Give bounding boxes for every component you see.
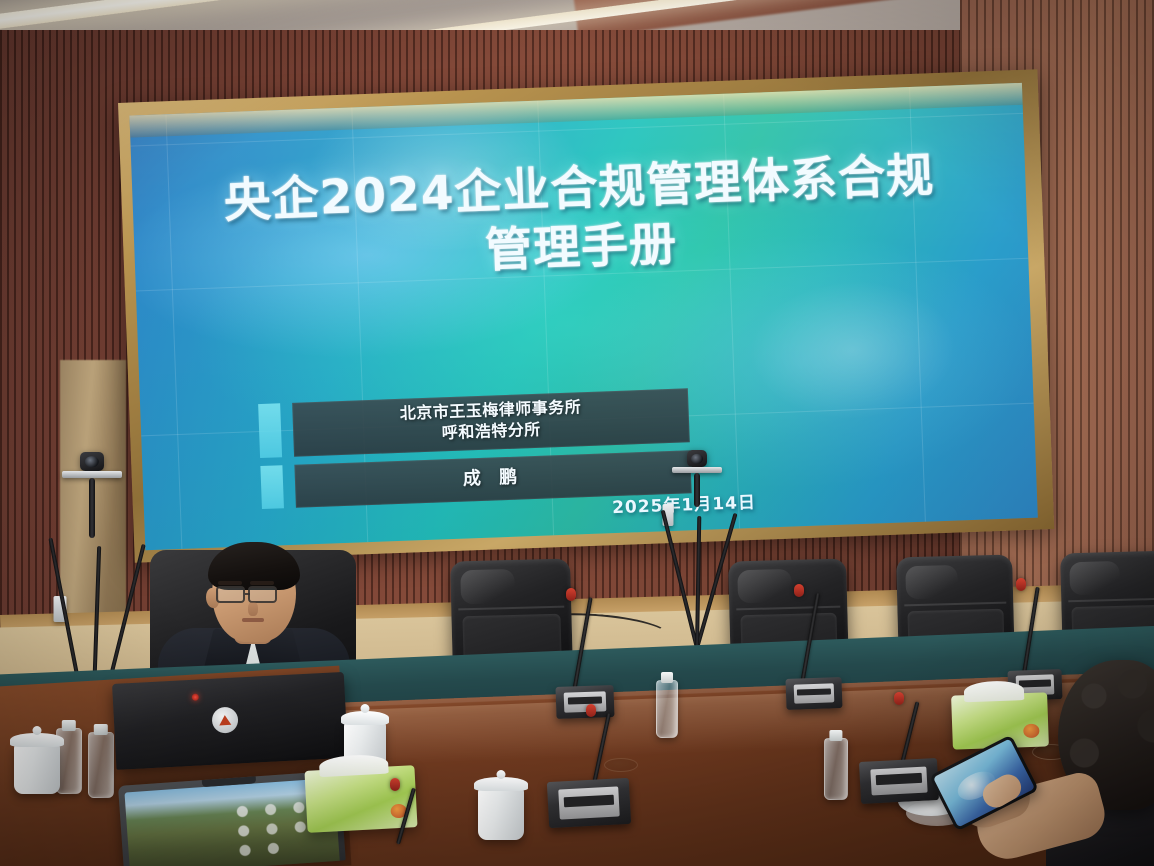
tissue-box-left [304,765,417,833]
cable-grommet-center [604,758,638,772]
microphone-capsule-front-1 [586,704,596,717]
tea-cup-knob-left [33,726,42,735]
microphone-capsule-front-3 [390,778,400,791]
presenter-eyebrow-right [250,581,274,585]
laptop-power-led [191,693,198,700]
led-video-wall-frame: 央企2024企业合规管理体系合规 管理手册 北京市王玉梅律师事务所 呼和浩特分所… [118,69,1054,562]
microphone-display-slot-1 [567,696,602,704]
tea-cup-left [14,744,60,794]
presenter-mouth [242,618,264,622]
microphone-capsule-back-3 [1016,578,1026,591]
credit-box-organization: 北京市王玉梅律师事务所 呼和浩特分所 [292,388,690,456]
chair-4-highlight [1069,561,1120,595]
microphone-capsule-front-2 [894,692,904,705]
led-video-wall-screen: 央企2024企业合规管理体系合规 管理手册 北京市王玉梅律师事务所 呼和浩特分所… [129,83,1037,550]
laptop-logo-triangle-icon [219,715,232,726]
tripod-left-camera [80,452,104,471]
eyeglasses-lens-right [248,586,277,603]
camera-tripod-center [652,450,742,648]
bottle-cap-center [661,672,673,683]
laptop-brand-logo-icon [212,707,239,734]
tea-cup-knob-center [497,770,506,779]
slide-title: 央企2024企业合规管理体系合规 管理手册 [166,144,995,293]
tripod-center-camera [687,450,707,467]
tripod-left-plate [62,471,122,478]
presentation-slide: 央企2024企业合规管理体系合规 管理手册 北京市王玉梅律师事务所 呼和浩特分所… [129,83,1037,550]
microphone-capsule-back-1 [566,588,576,601]
chair-2-highlight [738,569,792,603]
chair-1-highlight [460,569,515,604]
microphone-capsule-back-2 [794,584,804,597]
laptop-presenter[interactable] [112,672,348,770]
bottle-cap-left-1 [62,720,76,731]
tissue-sheet-right [964,680,1024,702]
microphone-base-back-2[interactable] [785,677,842,710]
tripod-center-column [694,473,700,507]
conference-room-photo: 央企2024企业合规管理体系合规 管理手册 北京市王玉梅律师事务所 呼和浩特分所… [0,0,1154,866]
water-bottle-center [656,680,678,738]
bottle-cap-left-2 [94,724,108,735]
credit-tab-icon [258,403,282,457]
tissue-box-label-icon-right [1024,724,1040,739]
water-bottle-right [824,738,848,800]
tripod-left-column [89,478,95,538]
microphone-base-front-2[interactable] [859,758,939,804]
presenter-eyebrow-left [218,581,242,585]
attendee-with-phone [1040,660,1154,866]
chair-3-highlight [906,565,959,599]
presenter-nose [248,602,258,616]
tea-cup-lid-center [474,777,527,791]
eyeglasses-bridge [245,593,250,595]
credit-tab-icon-2 [260,465,284,509]
tea-cup-knob-center-left [361,704,370,713]
water-bottle-left-2 [88,732,114,798]
tea-cup-lid-left [10,733,63,747]
tea-cup-center [478,788,524,840]
tea-cup-lid-center-left [341,711,390,725]
eyeglasses-lens-left [216,586,245,603]
microphone-base-front-1[interactable] [547,778,631,828]
tripod-center-leg-1 [661,510,699,649]
credit-row-organization: 北京市王玉梅律师事务所 呼和浩特分所 [258,388,690,457]
bottle-cap-right [829,730,842,741]
